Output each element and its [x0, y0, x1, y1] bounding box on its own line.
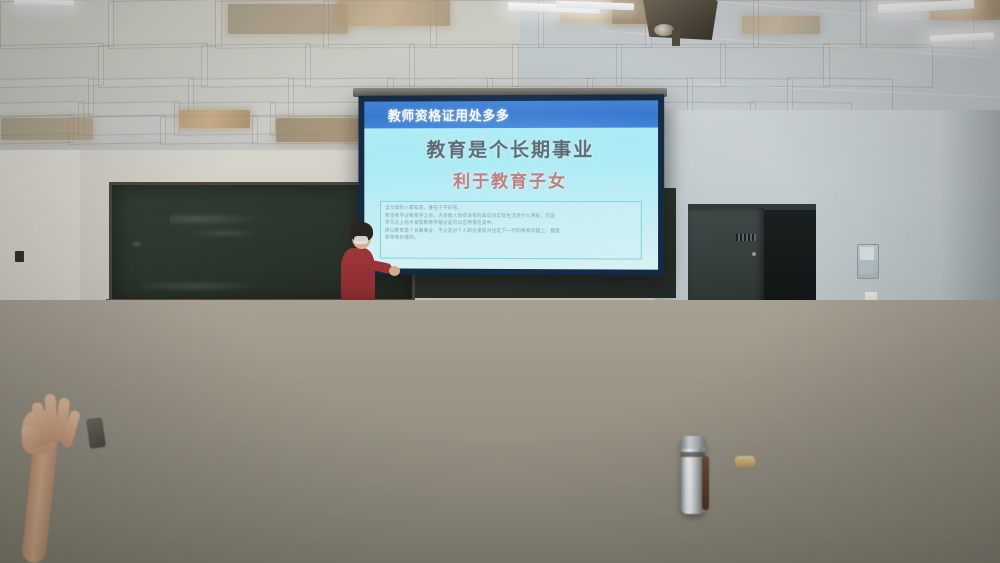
thermos-strap — [702, 456, 709, 510]
lecturer-hand — [389, 266, 400, 276]
seating-area — [0, 290, 1000, 563]
slide-content: 教师资格证用处多多 教育是个长期事业 利于教育子女 当父母的人都知道，难在于不好… — [364, 100, 658, 269]
door-knob[interactable] — [752, 252, 756, 256]
ceiling-lamp — [14, 0, 74, 6]
light-switch-upper[interactable] — [860, 247, 874, 260]
door-sign — [736, 234, 756, 241]
slide-heading-1: 教育是个长期事业 — [364, 135, 658, 163]
wristwatch — [735, 456, 755, 467]
projector-lens — [654, 24, 674, 36]
ceiling-water-stain — [1, 118, 93, 140]
light-switch-lower[interactable] — [860, 262, 874, 274]
ceiling-lamp — [930, 32, 994, 42]
chalk-mark — [170, 212, 260, 226]
slide-title-bar: 教师资格证用处多多 — [364, 100, 658, 128]
lecturer-face-mask — [354, 236, 368, 244]
chalk-mark — [130, 240, 144, 248]
chalk-mark — [190, 228, 260, 238]
screenshot-root: 教师资格证用处多多 教育是个长期事业 利于教育子女 当父母的人都知道，难在于不好… — [0, 0, 1000, 563]
thermos-cap — [681, 436, 705, 449]
projection-screen: 教师资格证用处多多 教育是个长期事业 利于教育子女 当父母的人都知道，难在于不好… — [358, 94, 664, 276]
thermos-band — [681, 452, 705, 457]
hand-fingers — [0, 380, 140, 470]
slide-heading-2: 利于教育子女 — [364, 167, 658, 192]
slide-body-line: 非常有价值的。 — [385, 235, 637, 243]
projector-mount-arm — [672, 30, 680, 46]
slide-body-textbox: 当父母的人都知道，难在于不好管。有没有学过教育学之前，大多数人觉得没有的知识对实… — [380, 201, 642, 260]
wall-socket — [15, 251, 24, 262]
ceiling-lamp — [878, 0, 974, 14]
slide-title: 教师资格证用处多多 — [364, 105, 509, 124]
